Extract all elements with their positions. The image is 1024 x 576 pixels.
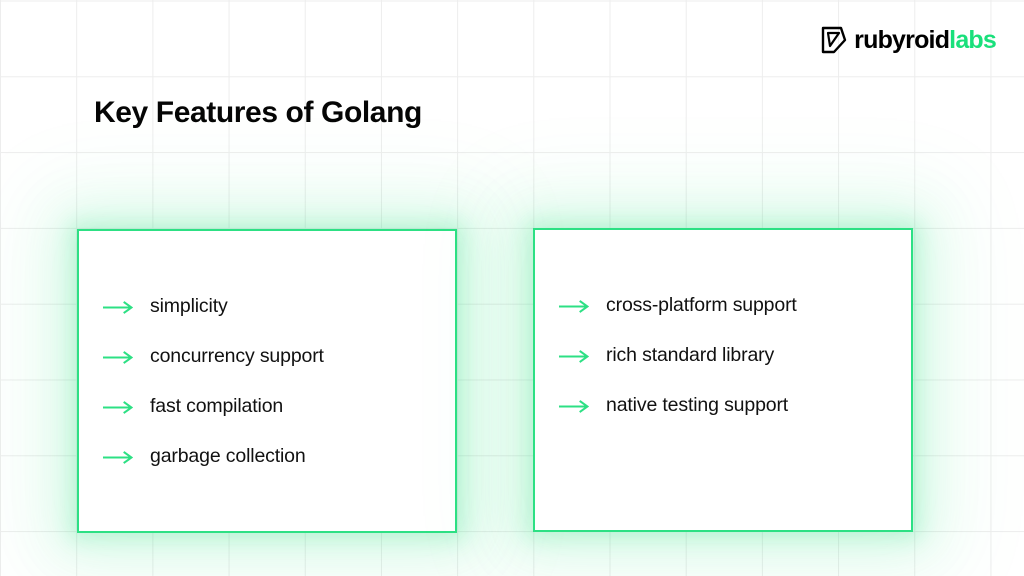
arrow-right-icon — [103, 401, 133, 414]
rubyroid-diamond-mark-icon — [821, 26, 847, 54]
arrow-right-icon — [559, 350, 589, 363]
arrow-right-icon — [559, 400, 589, 413]
features-card-right: cross-platform support rich standard lib… — [533, 228, 913, 532]
list-item-label: simplicity — [150, 297, 228, 317]
slide-canvas: rubyroidlabs Key Features of Golang simp… — [0, 0, 1024, 576]
list-item-label: fast compilation — [150, 397, 283, 417]
list-item: simplicity — [103, 282, 455, 332]
arrow-right-icon — [103, 351, 133, 364]
logo-name-accent: labs — [949, 26, 996, 54]
arrow-right-icon — [559, 300, 589, 313]
logo-name-primary: rubyroid — [854, 26, 949, 54]
features-card-left: simplicity concurrency support fast comp… — [77, 229, 457, 533]
arrow-right-icon — [103, 301, 133, 314]
feature-list-left: simplicity concurrency support fast comp… — [79, 231, 455, 482]
list-item: concurrency support — [103, 332, 455, 382]
list-item: cross-platform support — [559, 281, 911, 331]
list-item-label: native testing support — [606, 396, 788, 416]
list-item-label: cross-platform support — [606, 296, 797, 316]
arrow-right-icon — [103, 451, 133, 464]
list-item-label: rich standard library — [606, 346, 774, 366]
list-item: garbage collection — [103, 432, 455, 482]
page-title: Key Features of Golang — [94, 96, 422, 130]
list-item-label: concurrency support — [150, 347, 324, 367]
rubyroid-labs-logo: rubyroidlabs — [821, 24, 996, 56]
list-item: native testing support — [559, 381, 911, 431]
list-item: rich standard library — [559, 331, 911, 381]
list-item-label: garbage collection — [150, 447, 306, 467]
list-item: fast compilation — [103, 382, 455, 432]
feature-list-right: cross-platform support rich standard lib… — [535, 230, 911, 431]
